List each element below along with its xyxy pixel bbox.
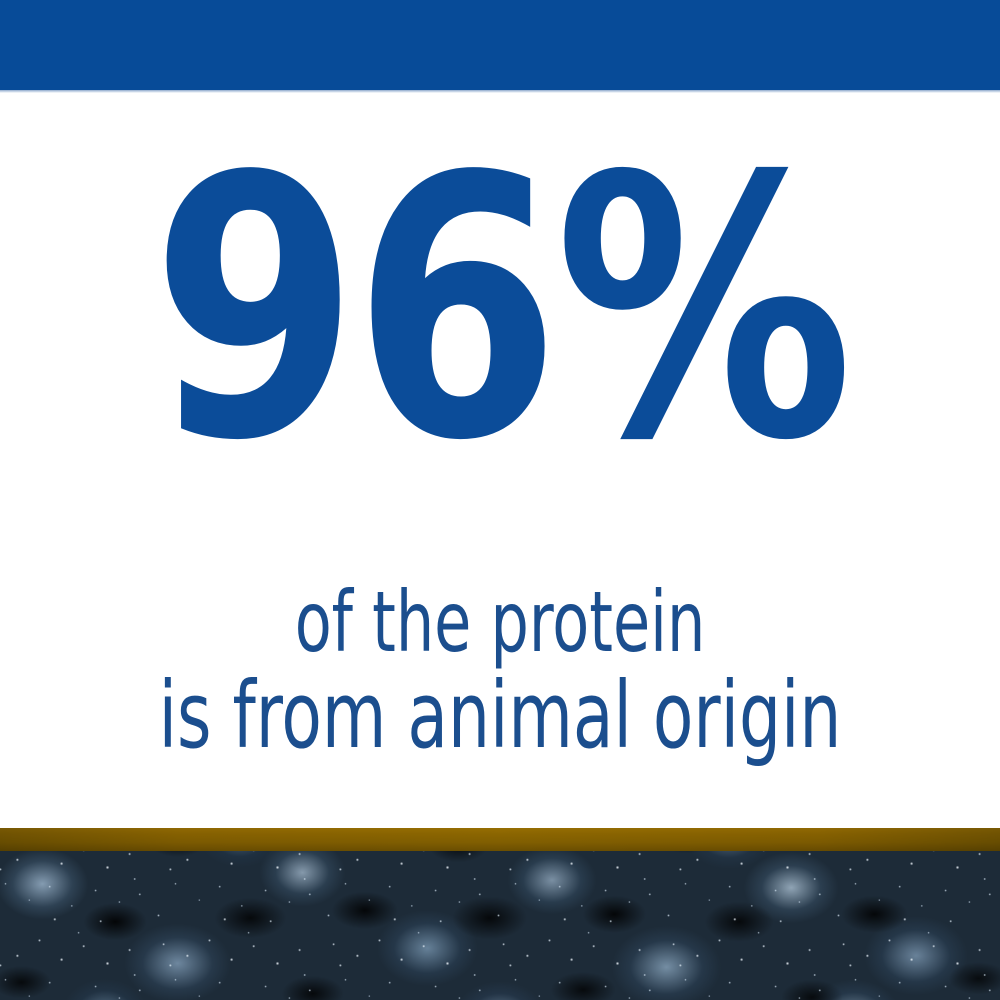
kibble-texture-photo (0, 851, 1000, 1000)
subtitle-block: of the protein is from animal origin (0, 580, 1000, 762)
stat-block: 96% (0, 130, 1000, 490)
top-blue-banner (0, 0, 1000, 90)
protein-claim-panel: 96% of the protein is from animal origin (0, 0, 1000, 1000)
subtitle-line-2: is from animal origin (100, 670, 900, 762)
gold-divider (0, 828, 1000, 851)
subtitle-line-1: of the protein (100, 580, 900, 664)
kibble-top-shading (0, 851, 1000, 1000)
stat-value-96-percent: 96% (152, 130, 849, 490)
